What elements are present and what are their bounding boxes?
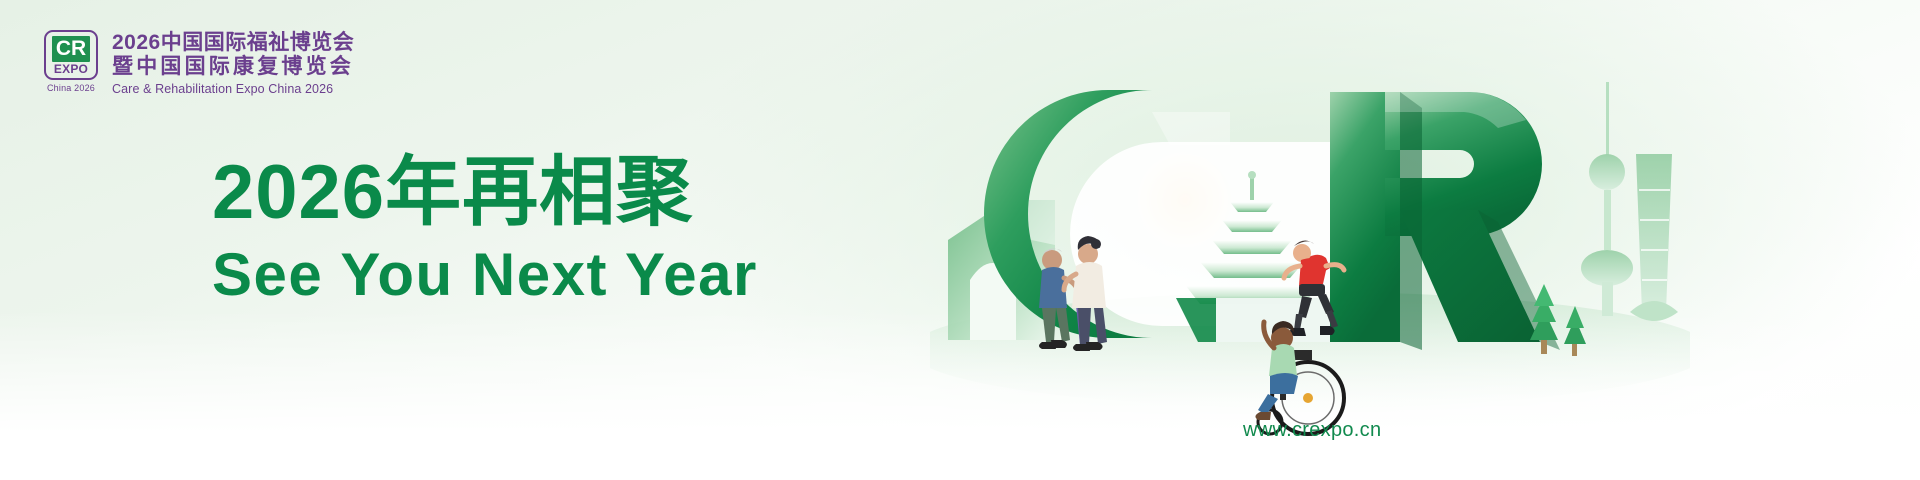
headline-english: See You Next Year	[212, 242, 758, 308]
logo-cr-text: CR	[52, 36, 90, 62]
logo-expo-text: EXPO	[54, 63, 88, 76]
logo-title-en: Care & Rehabilitation Expo China 2026	[112, 81, 354, 97]
headline-chinese: 2026年再相聚	[212, 152, 758, 234]
logo-title-group: 2026中国国际福祉博览会 暨中国国际康复博览会 Care & Rehabili…	[112, 30, 354, 97]
logo-china-caption: China 2026	[47, 83, 95, 94]
logo-title-cn-line2: 暨中国国际康复博览会	[112, 55, 354, 79]
tower-building-icon	[1630, 154, 1678, 321]
logo-title-cn-line1: 2026中国国际福祉博览会	[112, 31, 354, 55]
website-url[interactable]: www.crexpo.cn	[1243, 419, 1381, 442]
expo-banner: CR EXPO China 2026 2026中国国际福祉博览会 暨中国国际康复…	[0, 0, 1920, 480]
expo-logo-block[interactable]: CR EXPO China 2026 2026中国国际福祉博览会 暨中国国际康复…	[42, 30, 354, 97]
logo-mark: CR EXPO China 2026	[42, 30, 100, 94]
illustration	[930, 50, 1690, 450]
letter-r-icon	[1330, 92, 1560, 350]
logo-badge: CR EXPO	[44, 30, 98, 80]
headline-group: 2026年再相聚 See You Next Year	[212, 152, 758, 308]
tv-tower-icon	[1581, 82, 1633, 316]
